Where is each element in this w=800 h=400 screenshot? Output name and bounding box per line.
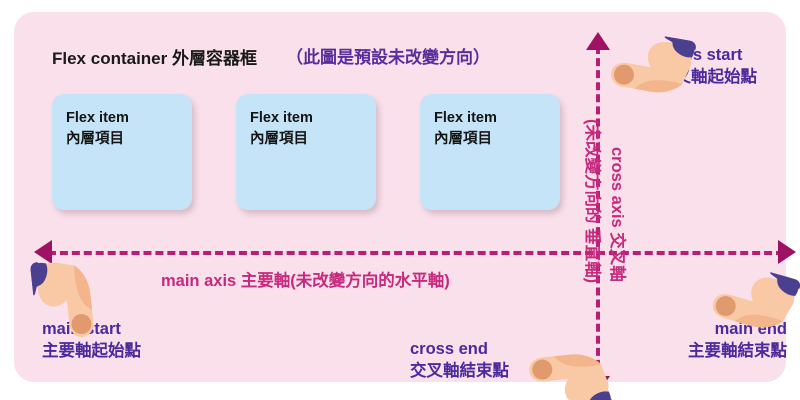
flex-item-label: Flex item 內層項目: [66, 108, 129, 150]
cross-axis-label-sub: (未改變方向的 垂直軸): [582, 119, 606, 283]
flex-container-box: Flex container 外層容器框 （此圖是預設未改變方向） Flex i…: [14, 12, 786, 382]
cross-end-label-en: cross end: [410, 338, 509, 360]
flex-item: Flex item 內層項目: [420, 94, 560, 210]
flex-container-title: Flex container 外層容器框: [52, 44, 257, 69]
flex-item-label: Flex item 內層項目: [434, 108, 497, 150]
pointing-hand-icon: [520, 334, 613, 400]
flex-item-label-en: Flex item: [250, 110, 313, 126]
flexbox-axes-diagram: Flex container 外層容器框 （此圖是預設未改變方向） Flex i…: [0, 0, 800, 400]
pointing-hand-icon: [600, 27, 698, 115]
flex-container-note: （此圖是預設未改變方向）: [286, 43, 490, 68]
cross-end-label: cross end 交叉軸結束點: [410, 338, 509, 383]
flex-item-label: Flex item 內層項目: [250, 108, 313, 150]
cross-axis-label: cross axis 交叉軸: [607, 147, 631, 282]
cross-end-label-zh: 交叉軸結束點: [410, 360, 509, 382]
arrow-up-icon: [586, 32, 610, 50]
arrow-right-icon: [778, 240, 796, 264]
flex-item-label-zh: 內層項目: [434, 131, 492, 147]
flex-item: Flex item 內層項目: [52, 94, 192, 210]
flex-item-label-zh: 內層項目: [66, 131, 124, 147]
flex-item-label-en: Flex item: [434, 110, 497, 126]
flex-item: Flex item 內層項目: [236, 94, 376, 210]
main-axis-dashed-line: [48, 251, 784, 255]
pointing-hand-icon: [30, 254, 113, 347]
main-axis-label: main axis 主要軸(未改變方向的水平軸): [161, 267, 450, 291]
flex-item-label-en: Flex item: [66, 110, 129, 126]
flex-item-label-zh: 內層項目: [250, 131, 308, 147]
